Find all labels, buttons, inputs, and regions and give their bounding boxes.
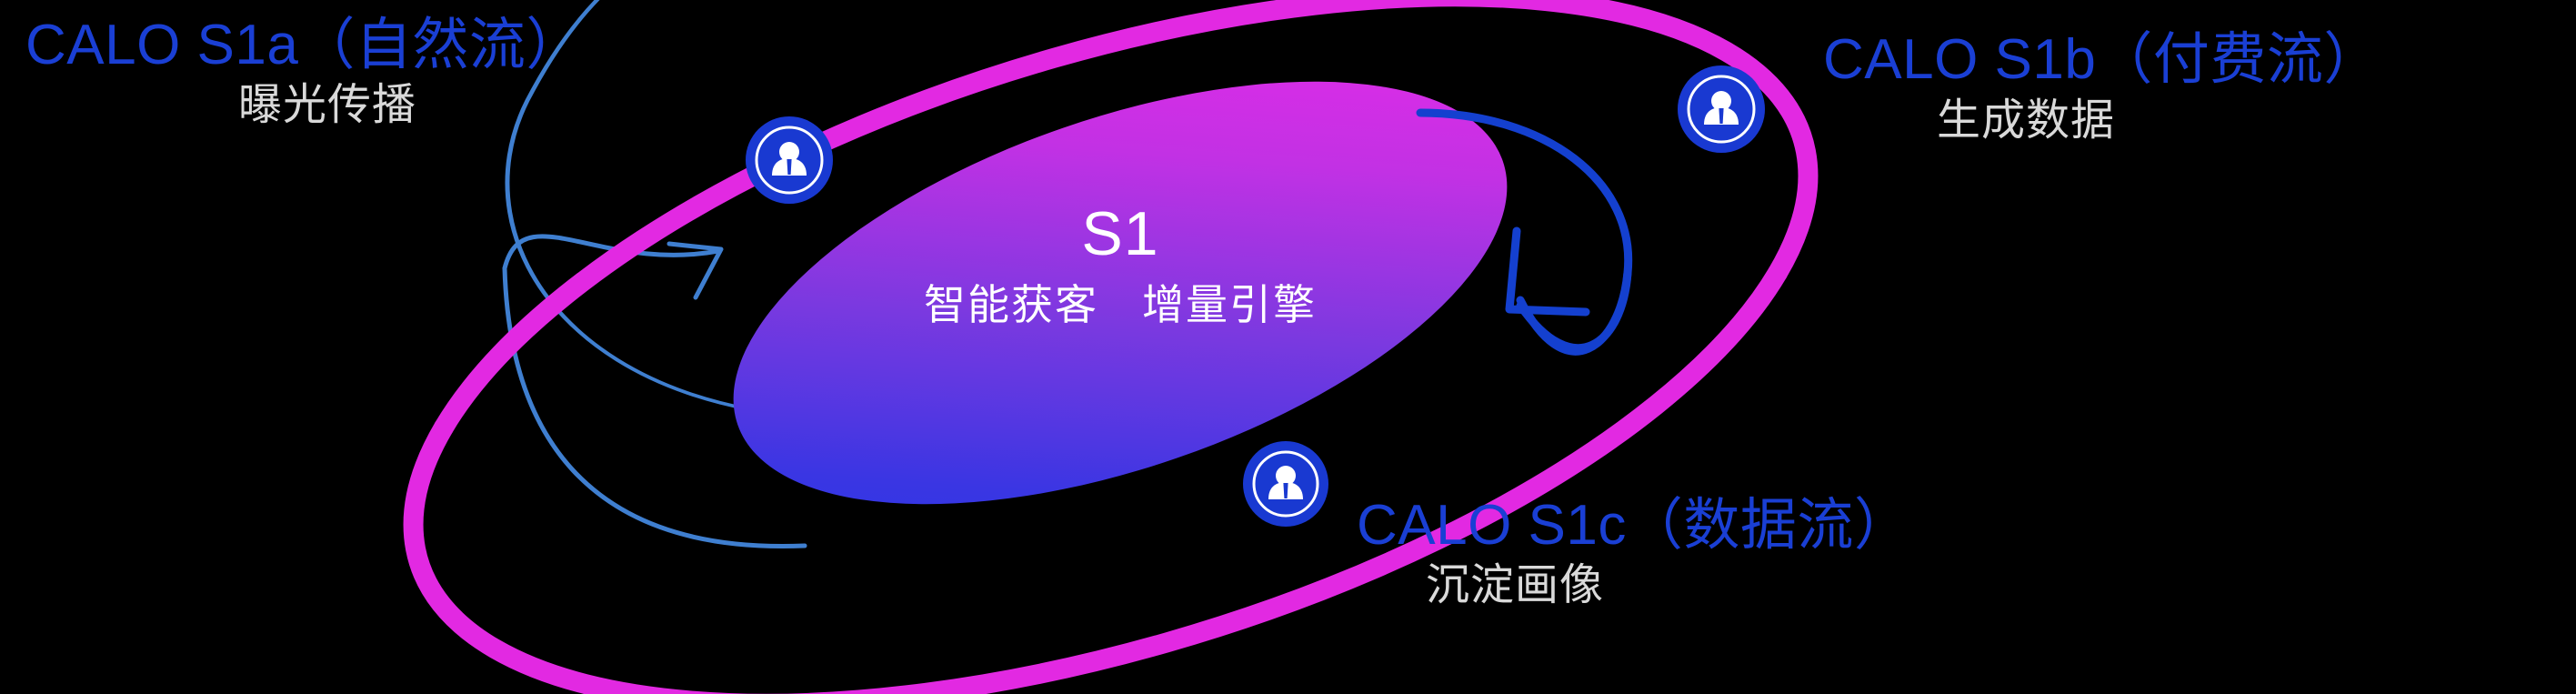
node-s1a-title: CALO S1a（自然流） bbox=[25, 13, 583, 77]
node-s1c[interactable] bbox=[1243, 441, 1328, 527]
node-s1a[interactable] bbox=[746, 116, 833, 204]
node-s1a-subtitle: 曝光传播 bbox=[238, 80, 416, 130]
node-s1b-subtitle: 生成数据 bbox=[1937, 96, 2115, 146]
node-s1c-title: CALO S1c（数据流） bbox=[1357, 493, 1910, 558]
diagram-canvas: S1 智能获客 增量引擎 CALO S1a（自然流） 曝光传播 CALO S1b… bbox=[0, 0, 2576, 694]
node-s1b-title: CALO S1b（付费流） bbox=[1823, 27, 2381, 92]
node-s1b[interactable] bbox=[1678, 65, 1765, 153]
node-s1c-subtitle: 沉淀画像 bbox=[1426, 560, 1604, 610]
